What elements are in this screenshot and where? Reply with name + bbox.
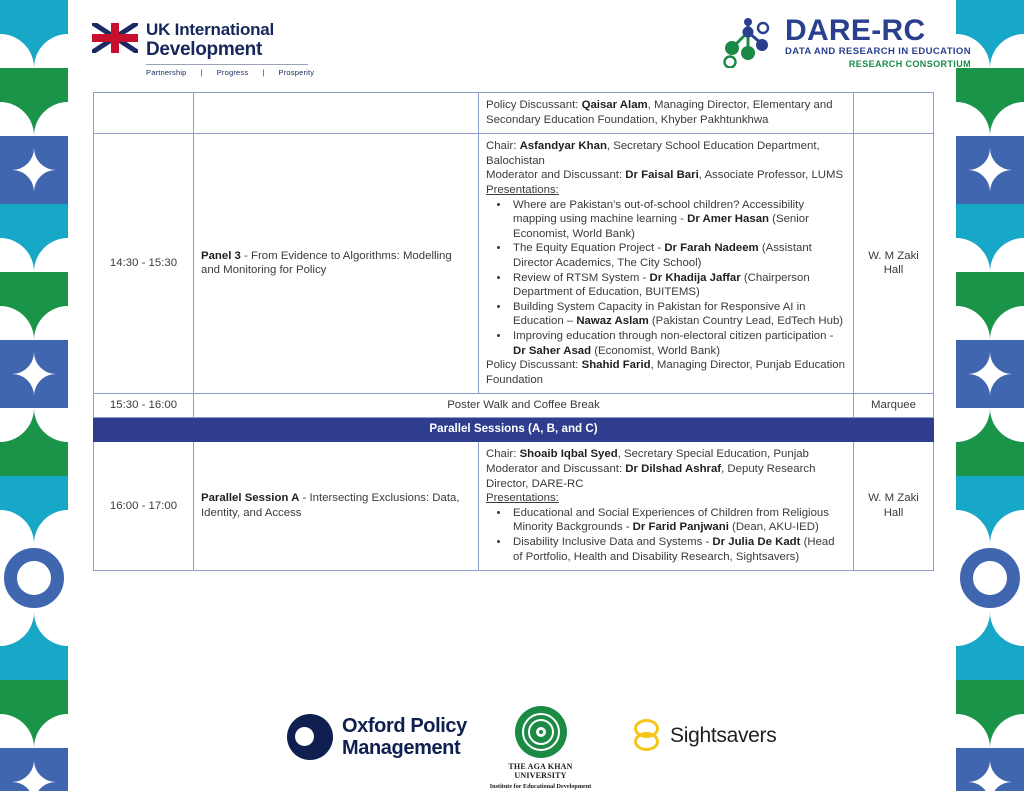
row-venue: Marquee (854, 394, 934, 418)
opm-line2: Management (342, 737, 467, 759)
presentations-label: Presentations: (486, 183, 846, 198)
dare-rc-logo: DARE-RC DATA AND RESEARCH IN EDUCATION R… (718, 16, 971, 70)
presentation-item: Review of RTSM System - Dr Khadija Jaffa… (510, 271, 846, 300)
break-label: Poster Walk and Coffee Break (194, 394, 854, 418)
arch-tile-green-down (956, 408, 1024, 476)
row-time (94, 93, 194, 134)
flower-tile-blue (0, 340, 68, 408)
oxford-policy-management-logo: Oxford Policy Management (287, 714, 467, 760)
presentation-item: Disability Inclusive Data and Systems - … (510, 535, 846, 564)
presentation-item: Where are Pakistan’s out-of-school child… (510, 198, 846, 242)
arch-tile-cyan-down (0, 612, 68, 680)
presentation-item: The Equity Equation Project - Dr Farah N… (510, 241, 846, 270)
presentations-list: Educational and Social Experiences of Ch… (499, 506, 846, 564)
row-detail: Policy Discussant: Qaisar Alam, Managing… (479, 93, 854, 134)
presentation-item: Educational and Social Experiences of Ch… (510, 506, 846, 535)
presentation-item: Building System Capacity in Pakistan for… (510, 300, 846, 329)
table-row-break: 15:30 - 16:00 Poster Walk and Coffee Bre… (94, 394, 934, 418)
moderator-line: Moderator and Discussant: Dr Faisal Bari… (486, 168, 846, 183)
presentation-item: Improving education through non-electora… (510, 329, 846, 358)
sightsavers-label: Sightsavers (670, 724, 776, 748)
opm-line1: Oxford Policy (342, 715, 467, 737)
policy-discussant: Policy Discussant: Shahid Farid, Managin… (486, 358, 846, 387)
moderator-line: Moderator and Discussant: Dr Dilshad Ash… (486, 462, 846, 491)
presentations-label: Presentations: (486, 491, 846, 506)
policy-discussant: Policy Discussant: Qaisar Alam, Managing… (486, 98, 846, 127)
arch-tile-cyan (0, 476, 68, 544)
aku-line2: Institute for Educational Development (483, 783, 598, 790)
row-title (194, 93, 479, 134)
uk-flag-icon (92, 23, 138, 53)
aga-khan-university-logo: THE AGA KHAN UNIVERSITY Institute for Ed… (483, 706, 598, 790)
decorative-border-right (956, 0, 1024, 791)
flower-tile-blue (956, 136, 1024, 204)
row-detail: Chair: Shoaib Iqbal Syed, Secretary Spec… (479, 442, 854, 571)
uk-logo-line1: UK International (146, 20, 314, 39)
flower-tile-blue (956, 340, 1024, 408)
slide-header: UK International Development Partnership… (0, 0, 1024, 88)
presentations-list: Where are Pakistan’s out-of-school child… (499, 198, 846, 359)
tagline-prosperity: Prosperity (279, 68, 315, 77)
row-venue (854, 93, 934, 134)
dare-rc-subtitle2: RESEARCH CONSORTIUM (785, 58, 971, 70)
uk-logo-divider (146, 64, 308, 65)
chair-line: Chair: Asfandyar Khan, Secretary School … (486, 139, 846, 168)
row-detail: Chair: Asfandyar Khan, Secretary School … (479, 134, 854, 394)
ring-tile-blue (956, 544, 1024, 612)
ring-tile-blue (0, 544, 68, 612)
row-title: Panel 3 - From Evidence to Algorithms: M… (194, 134, 479, 394)
arch-tile-green (956, 272, 1024, 340)
aku-line1: THE AGA KHAN UNIVERSITY (483, 762, 598, 780)
tagline-partnership: Partnership (146, 68, 187, 77)
tagline-progress: Progress (217, 68, 249, 77)
arch-tile-green-down (0, 408, 68, 476)
decorative-border-left (0, 0, 68, 791)
uk-logo-line2: Development (146, 39, 314, 60)
arch-tile-cyan-down (956, 612, 1024, 680)
dare-rc-title: DARE-RC (785, 16, 971, 46)
table-row-section-band: Parallel Sessions (A, B, and C) (94, 417, 934, 442)
section-band-label: Parallel Sessions (A, B, and C) (94, 417, 934, 442)
row-venue: W. M Zaki Hall (854, 134, 934, 394)
uk-logo-taglines: Partnership | Progress | Prosperity (146, 68, 314, 77)
dare-rc-subtitle: DATA AND RESEARCH IN EDUCATION (785, 46, 971, 58)
row-venue: W. M Zaki Hall (854, 442, 934, 571)
table-row: 16:00 - 17:00 Parallel Session A - Inter… (94, 442, 934, 571)
dare-rc-network-icon (718, 18, 776, 68)
chair-line: Chair: Shoaib Iqbal Syed, Secretary Spec… (486, 447, 846, 462)
row-time: 14:30 - 15:30 (94, 134, 194, 394)
arch-tile-cyan (956, 204, 1024, 272)
arch-tile-green (0, 272, 68, 340)
row-time: 16:00 - 17:00 (94, 442, 194, 571)
slide-footer: Oxford Policy Management THE AGA KHAN UN… (0, 696, 1024, 791)
aku-rings-icon (515, 706, 567, 758)
tagline-sep-2: | (262, 68, 264, 77)
tagline-sep-1: | (201, 68, 203, 77)
sightsavers-eye-icon (632, 719, 662, 753)
row-title: Parallel Session A - Intersecting Exclus… (194, 442, 479, 571)
table-row: 14:30 - 15:30 Panel 3 - From Evidence to… (94, 134, 934, 394)
uk-international-development-logo: UK International Development Partnership… (92, 20, 314, 77)
row-time: 15:30 - 16:00 (94, 394, 194, 418)
opm-circle-icon (287, 714, 333, 760)
agenda-table: Policy Discussant: Qaisar Alam, Managing… (93, 92, 934, 571)
flower-tile-blue (0, 136, 68, 204)
arch-tile-cyan (0, 204, 68, 272)
arch-tile-cyan (956, 476, 1024, 544)
sightsavers-logo: Sightsavers (632, 719, 776, 753)
table-row: Policy Discussant: Qaisar Alam, Managing… (94, 93, 934, 134)
slide-page: UK International Development Partnership… (0, 0, 1024, 791)
